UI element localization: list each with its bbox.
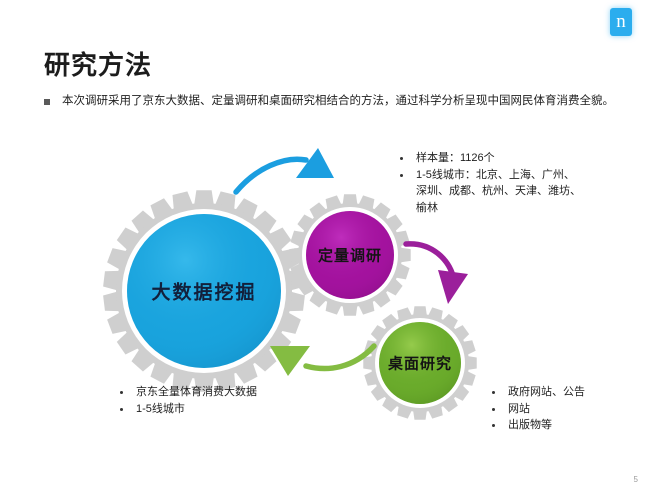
- dot-bullet-icon: [120, 391, 123, 394]
- slide-canvas: n 研究方法 本次调研采用了京东大数据、定量调研和桌面研究相结合的方法，通过科学…: [0, 0, 650, 492]
- list-item-text: 出版物等: [508, 417, 552, 434]
- list-item-continuation: 榆林: [400, 200, 635, 217]
- blue-arrow-icon: [232, 142, 342, 200]
- list-item: 1-5线城市：北京、上海、广州、: [400, 167, 635, 184]
- list-item-text: 榆林: [416, 200, 438, 217]
- list-item: 1-5线城市: [120, 401, 350, 418]
- list-item: 出版物等: [492, 417, 642, 434]
- lead-bullet-text: 本次调研采用了京东大数据、定量调研和桌面研究相结合的方法，通过科学分析呈现中国网…: [62, 93, 614, 110]
- page-title: 研究方法: [44, 45, 152, 82]
- purple-arrow-icon: [398, 238, 472, 316]
- list-item-text: 1-5线城市: [136, 401, 185, 418]
- lead-bullet: 本次调研采用了京东大数据、定量调研和桌面研究相结合的方法，通过科学分析呈现中国网…: [44, 93, 619, 110]
- list-item-text: 政府网站、公告: [508, 384, 585, 401]
- brand-logo: n: [610, 8, 632, 36]
- dot-bullet-icon: [492, 391, 495, 394]
- list-item-text: 1-5线城市：北京、上海、广州、: [416, 167, 575, 184]
- dot-bullet-icon: [492, 408, 495, 411]
- list-item-text: 京东全量体育消费大数据: [136, 384, 257, 401]
- list-item-text: 样本量：1126个: [416, 150, 495, 167]
- dot-bullet-icon: [400, 174, 403, 177]
- logo-letter-icon: n: [616, 12, 626, 31]
- gear-survey: 定量调研: [288, 193, 412, 317]
- page-number: 5: [634, 475, 638, 484]
- list-item: 政府网站、公告: [492, 384, 642, 401]
- bigdata-source-list: 京东全量体育消费大数据 1-5线城市: [120, 384, 350, 417]
- desk-research-source-list: 政府网站、公告 网站 出版物等: [492, 384, 642, 434]
- list-item-text: 深圳、成都、杭州、天津、潍坊、: [416, 183, 581, 200]
- dot-bullet-icon: [120, 408, 123, 411]
- square-bullet-icon: [44, 99, 50, 105]
- dot-bullet-icon: [400, 157, 403, 160]
- list-item-text: 网站: [508, 401, 530, 418]
- sample-info-list: 样本量：1126个 1-5线城市：北京、上海、广州、 深圳、成都、杭州、天津、潍…: [400, 150, 635, 216]
- list-item: 京东全量体育消费大数据: [120, 384, 350, 401]
- list-item: 样本量：1126个: [400, 150, 635, 167]
- list-item: 网站: [492, 401, 642, 418]
- green-arrow-icon: [262, 334, 380, 384]
- dot-bullet-icon: [492, 424, 495, 427]
- list-item-continuation: 深圳、成都、杭州、天津、潍坊、: [400, 183, 635, 200]
